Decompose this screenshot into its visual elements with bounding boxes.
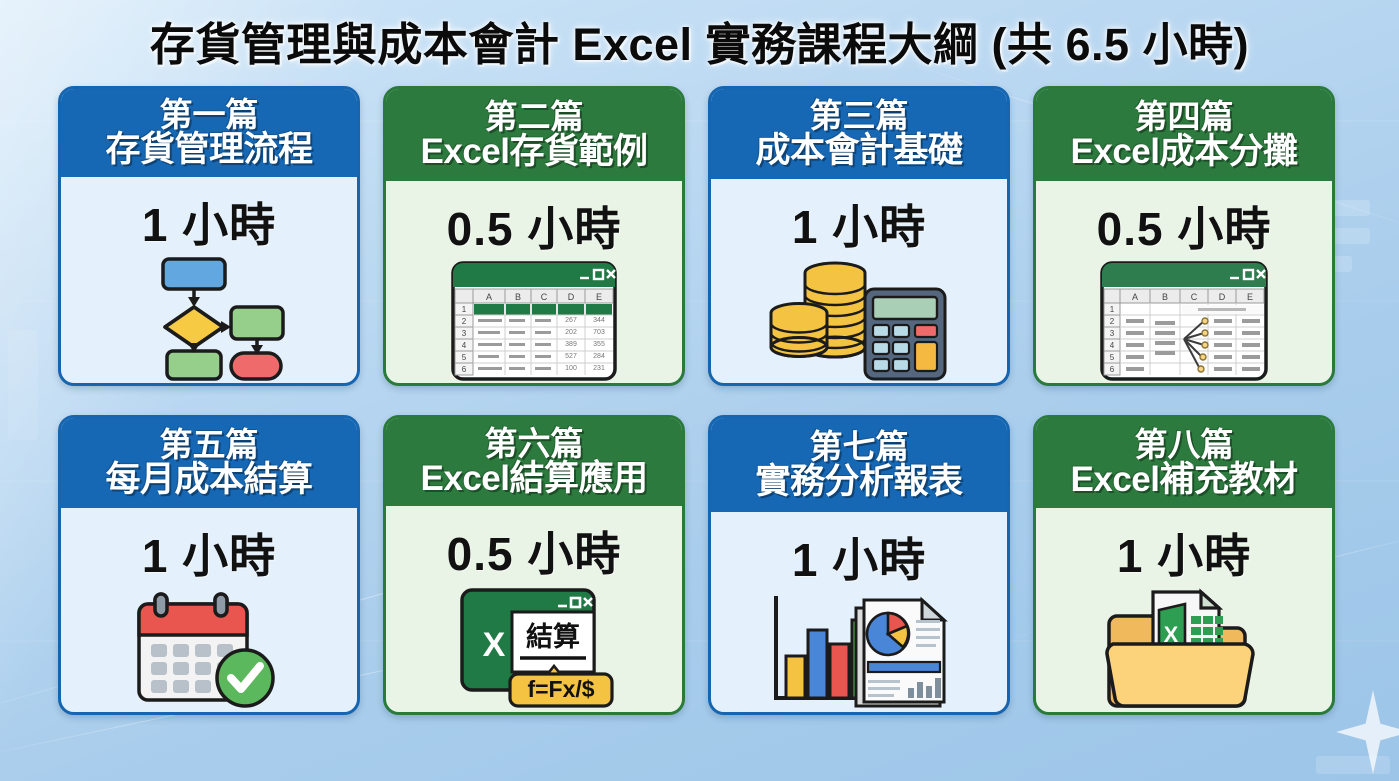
svg-text:6: 6 [1110,365,1115,374]
course-card-2[interactable]: 第二篇 Excel存貨範例 0.5 小時 [383,86,685,386]
card-6-topic-label: Excel結算應用 [421,461,648,497]
card-8-hours: 1 小時 [1117,520,1251,586]
card-1-topic-label: 存貨管理流程 [105,132,312,168]
svg-text:5: 5 [462,353,467,362]
sparkle-icon [1336,690,1399,774]
card-2-part-label: 第二篇 [485,100,584,134]
card-4-body: 0.5 小時 [1036,181,1332,383]
card-8-body: 1 小時 X [1036,508,1332,712]
svg-text:355: 355 [593,341,605,348]
card-7-chart-wrap [711,590,1007,712]
svg-text:C: C [541,292,548,302]
excel-logo-letter: X [483,626,506,664]
card-6-icon-wrap: X 結算 f=Fx/$ [386,584,682,712]
svg-text:3: 3 [1110,329,1115,338]
card-3-hours: 1 小時 [792,191,926,257]
card-2-icon-wrap: ABC DE 123 456 [386,259,682,383]
excel-spreadsheet-icon: ABC DE 123 456 [449,259,619,383]
card-2-hours: 0.5 小時 [447,193,622,259]
svg-text:4: 4 [1110,341,1115,350]
svg-text:B: B [1162,292,1168,302]
card-1-body: 1 小時 [61,177,357,383]
course-card-4[interactable]: 第四篇 Excel成本分攤 0.5 小時 [1033,86,1335,386]
card-7-header: 第七篇 實務分析報表 [711,418,1007,512]
card-1-hours: 1 小時 [142,189,276,255]
card-4-hours: 0.5 小時 [1097,193,1272,259]
svg-text:2: 2 [1110,317,1115,326]
svg-text:A: A [486,292,492,302]
svg-text:C: C [1191,292,1198,302]
card-5-part-label: 第五篇 [160,428,259,462]
svg-text:A: A [1132,292,1138,302]
svg-text:E: E [596,292,602,302]
course-card-5[interactable]: 第五篇 每月成本結算 1 小時 [58,415,360,715]
coins-calculator-icon [769,257,949,383]
card-6-body: 0.5 小時 X 結算 f=Fx/$ [386,506,682,712]
card-8-part-label: 第八篇 [1135,428,1234,462]
svg-text:703: 703 [593,329,605,336]
card-3-body: 1 小時 [711,179,1007,383]
svg-text:D: D [568,292,575,302]
excel-formula-window-icon: X 結算 f=Fx/$ [450,584,618,712]
card-5-hours: 1 小時 [142,520,276,586]
excel-folder-icon: X [1101,586,1267,712]
card-2-body: 0.5 小時 [386,181,682,383]
card-6-part-label: 第六篇 [485,427,584,461]
svg-text:1: 1 [462,305,467,314]
svg-text:5: 5 [1110,353,1115,362]
card-8-header: 第八篇 Excel補充教材 [1036,418,1332,508]
course-card-8[interactable]: 第八篇 Excel補充教材 1 小時 X [1033,415,1335,715]
card-5-body: 1 小時 [61,508,357,712]
svg-text:B: B [515,292,521,302]
svg-text:231: 231 [593,365,605,372]
card-8-icon-wrap: X [1036,586,1332,712]
course-card-7[interactable]: 第七篇 實務分析報表 1 小時 [708,415,1010,715]
card-2-header: 第二篇 Excel存貨範例 [386,89,682,181]
course-card-6[interactable]: 第六篇 Excel結算應用 0.5 小時 X 結算 [383,415,685,715]
card-3-topic-label: 成本會計基礎 [755,133,962,169]
card-7-topic-label: 實務分析報表 [755,464,962,500]
svg-text:202: 202 [565,329,577,336]
svg-text:344: 344 [593,317,605,324]
card-1-icon-wrap [61,255,357,383]
svg-text:3: 3 [462,329,467,338]
bar-chart-report-icon [768,590,950,712]
card-4-icon-wrap: ABC DE 123 456 [1036,259,1332,383]
card-3-icon-wrap [711,257,1007,383]
card-5-topic-label: 每月成本結算 [105,462,312,498]
card-7-hours: 1 小時 [792,524,926,590]
card-1-part-label: 第一篇 [160,98,259,132]
card-4-topic-label: Excel成本分攤 [1071,134,1298,170]
svg-text:267: 267 [565,317,577,324]
card-4-header: 第四篇 Excel成本分攤 [1036,89,1332,181]
calendar-check-icon [131,586,287,712]
course-card-3[interactable]: 第三篇 成本會計基礎 1 小時 [708,86,1010,386]
card-1-header: 第一篇 存貨管理流程 [61,89,357,177]
card-7-part-label: 第七篇 [810,430,909,464]
card-4-part-label: 第四篇 [1135,100,1234,134]
formula-label: f=Fx/$ [527,676,594,702]
card-5-header: 第五篇 每月成本結算 [61,418,357,508]
course-card-1[interactable]: 第一篇 存貨管理流程 1 小時 [58,86,360,386]
card-8-topic-label: Excel補充教材 [1071,462,1298,498]
card-3-part-label: 第三篇 [810,99,909,133]
svg-text:527: 527 [565,353,577,360]
excel-cost-allocation-icon: ABC DE 123 456 [1098,259,1270,383]
card-6-hours: 0.5 小時 [447,518,622,584]
svg-text:1: 1 [1110,305,1115,314]
card-5-icon-wrap [61,586,357,712]
svg-text:4: 4 [462,341,467,350]
svg-text:389: 389 [565,341,577,348]
flowchart-icon [129,255,289,383]
card-2-topic-label: Excel存貨範例 [421,134,648,170]
card-6-header: 第六篇 Excel結算應用 [386,418,682,506]
card-3-header: 第三篇 成本會計基礎 [711,89,1007,179]
sheet-label: 結算 [526,621,580,652]
svg-text:284: 284 [593,353,605,360]
course-card-grid: 第一篇 存貨管理流程 1 小時 [58,86,1344,742]
svg-text:100: 100 [565,365,577,372]
card-7-body: 1 小時 [711,512,1007,712]
slide-canvas: 存貨管理與成本會計 Excel 實務課程大綱 (共 6.5 小時) 第一篇 存貨… [0,0,1399,781]
svg-text:2: 2 [462,317,467,326]
svg-text:E: E [1247,292,1253,302]
svg-text:6: 6 [462,365,467,374]
svg-text:D: D [1219,292,1226,302]
page-title: 存貨管理與成本會計 Excel 實務課程大綱 (共 6.5 小時) [0,8,1399,73]
